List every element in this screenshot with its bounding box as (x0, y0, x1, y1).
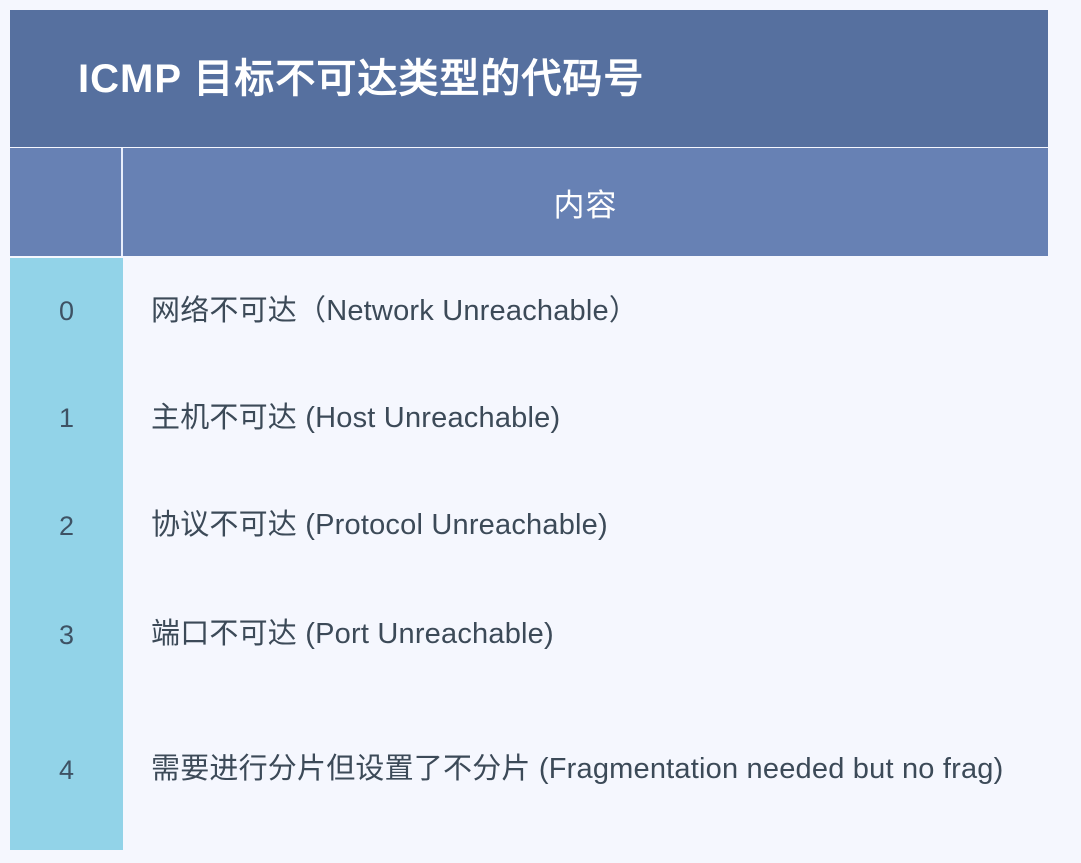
table-header-row: 内容 (10, 148, 1048, 256)
table-header-cell-content: 内容 (123, 148, 1048, 256)
table-row: 端口不可达 (Port Unreachable) (151, 580, 1081, 690)
table-row: 4 (10, 690, 123, 850)
list-item: 需要进行分片但设置了不分片 (Fragmentation needed but … (151, 747, 1004, 793)
table-body: 0 1 2 3 4 网络不可达（Network Unreachable） 主机不… (10, 258, 1081, 863)
table-row: 3 (10, 580, 123, 690)
table-row: 2 (10, 472, 123, 580)
table-code-column: 0 1 2 3 4 (10, 258, 123, 850)
table-row: 1 (10, 365, 123, 472)
table-title-band: ICMP 目标不可达类型的代码号 (10, 10, 1048, 147)
list-item: 端口不可达 (Port Unreachable) (151, 612, 554, 658)
table-row: 0 (10, 258, 123, 365)
list-item: 网络不可达（Network Unreachable） (151, 289, 638, 335)
document-page: ICMP 目标不可达类型的代码号 内容 0 1 2 3 4 网络不可达（Netw… (0, 0, 1081, 863)
table-row: 网络不可达（Network Unreachable） (151, 258, 1081, 365)
table-row: 需要进行分片但设置了不分片 (Fragmentation needed but … (151, 690, 1081, 850)
table-row: 协议不可达 (Protocol Unreachable) (151, 472, 1081, 580)
table-content-column: 网络不可达（Network Unreachable） 主机不可达 (Host U… (123, 258, 1081, 863)
table-row: 主机不可达 (Host Unreachable) (151, 365, 1081, 472)
page-title: ICMP 目标不可达类型的代码号 (10, 57, 644, 101)
table-header-label-content: 内容 (554, 180, 618, 225)
list-item: 主机不可达 (Host Unreachable) (151, 396, 560, 442)
list-item: 协议不可达 (Protocol Unreachable) (151, 503, 608, 549)
table-header-cell-code (10, 148, 123, 256)
